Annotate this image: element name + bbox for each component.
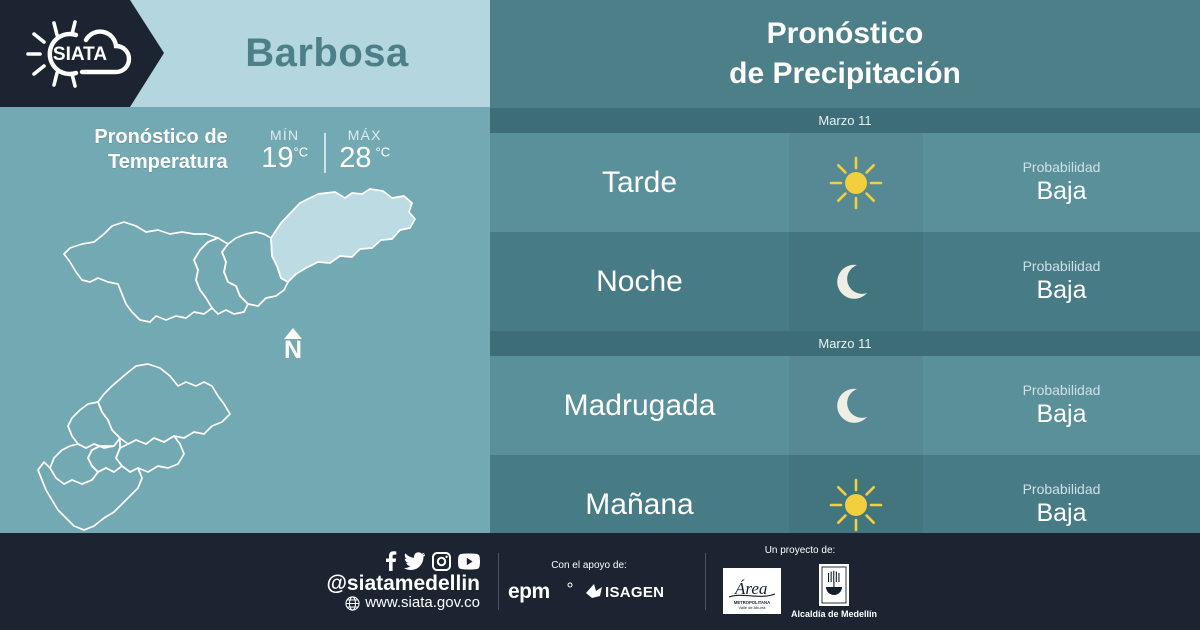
probability-value: Baja (1036, 399, 1086, 429)
sun-icon (789, 133, 923, 232)
area-metropolitana-logo: Área METROPOLITANA Valle de Aburrá (723, 568, 781, 614)
probability-label: Probabilidad (1023, 382, 1101, 400)
social-block: @siatamedellin www.siata.gov.co (300, 533, 480, 630)
forecast-rows: Marzo 11TardeProbabilidadBajaNocheProbab… (490, 108, 1200, 554)
max-label: MÁX (348, 127, 382, 143)
project-block: Un proyecto de: Área METROPOLITANA Valle… (700, 533, 900, 630)
precipitation-panel: Pronóstico de Precipitación Marzo 11Tard… (490, 0, 1200, 533)
moon-icon (789, 356, 923, 455)
date-bar: Marzo 11 (490, 331, 1200, 356)
min-label: MÍN (270, 127, 299, 143)
moon-icon (789, 232, 923, 331)
isagen-logo: ISAGEN (584, 581, 670, 601)
siata-logo-block: SIATA (0, 0, 164, 107)
map-region-envigado (116, 436, 184, 472)
compass-north: N (276, 328, 310, 363)
probability-label: Probabilidad (1023, 481, 1101, 499)
footer: @siatamedellin www.siata.gov.co Con el a… (0, 533, 1200, 630)
temperature-title: Pronóstico de Temperatura (94, 125, 227, 175)
weather-infographic: SIATA Barbosa Pronóstico de Temperatura … (0, 0, 1200, 630)
precipitation-title: Pronóstico de Precipitación (490, 0, 1200, 108)
min-value: 19°C (261, 144, 308, 173)
support-logos: epm ISAGEN (508, 579, 670, 603)
temperature-title-line2: Temperatura (94, 150, 227, 175)
north-label: N (276, 338, 310, 363)
min-unit: °C (294, 144, 309, 159)
date-bar: Marzo 11 (490, 108, 1200, 133)
temperature-max: MÁX 28°C (334, 127, 396, 173)
min-number: 19 (261, 142, 293, 174)
project-caption: Un proyecto de: (765, 545, 836, 556)
forecast-period: Noche (490, 232, 789, 331)
max-number: 28 (339, 142, 371, 174)
precipitation-title-line1: Pronóstico (767, 14, 924, 54)
social-handle[interactable]: @siatamedellin (326, 572, 480, 595)
left-panel: SIATA Barbosa Pronóstico de Temperatura … (0, 0, 490, 533)
epm-logo: epm (508, 579, 574, 603)
instagram-icon[interactable] (432, 552, 451, 571)
facebook-icon[interactable] (384, 551, 397, 571)
footer-divider-1 (498, 553, 499, 610)
map-svg (0, 186, 490, 533)
alcaldia-shield (819, 564, 849, 606)
alcaldia-logo-group: Alcaldía de Medellín (791, 564, 877, 619)
map-region-copacabana (194, 238, 248, 314)
map-region-barbosa (271, 189, 415, 282)
twitter-icon[interactable] (404, 551, 425, 571)
probability-value: Baja (1036, 498, 1086, 528)
probability-value: Baja (1036, 176, 1086, 206)
temperature-summary: Pronóstico de Temperatura MÍN 19°C MÁX 2… (0, 107, 490, 192)
social-icons (384, 551, 480, 571)
temperature-title-line1: Pronóstico de (94, 125, 227, 150)
temperature-divider (324, 133, 326, 173)
website-line[interactable]: www.siata.gov.co (345, 595, 480, 612)
max-unit: °C (376, 144, 391, 159)
aburra-valley-map: N (0, 186, 490, 533)
city-header-bar: SIATA Barbosa (0, 0, 490, 107)
youtube-icon[interactable] (458, 553, 480, 570)
siata-wordmark: SIATA (53, 44, 107, 65)
forecast-row: NocheProbabilidadBaja (490, 232, 1200, 331)
temperature-min: MÍN 19°C (254, 127, 316, 173)
forecast-probability: ProbabilidadBaja (923, 356, 1200, 455)
map-region-itagui (68, 402, 120, 448)
precipitation-title-line2: de Precipitación (729, 54, 961, 94)
sun-cloud-icon: SIATA (20, 18, 138, 90)
area-sub2: Valle de Aburrá (738, 605, 766, 610)
forecast-row: TardeProbabilidadBaja (490, 133, 1200, 232)
svg-text:ISAGEN: ISAGEN (605, 584, 664, 601)
map-region-bello (64, 222, 218, 322)
svg-text:epm: epm (508, 580, 550, 603)
temperature-values: MÍN 19°C MÁX 28°C (254, 127, 396, 173)
forecast-period: Tarde (490, 133, 789, 232)
map-region-medellin (98, 364, 230, 444)
project-logos: Área METROPOLITANA Valle de Aburrá (723, 564, 877, 619)
website-url[interactable]: www.siata.gov.co (365, 595, 480, 612)
globe-icon (345, 596, 360, 611)
probability-label: Probabilidad (1023, 258, 1101, 276)
support-block: Con el apoyo de: epm ISAGEN (513, 533, 665, 630)
max-value: 28°C (339, 144, 390, 173)
probability-label: Probabilidad (1023, 159, 1101, 177)
support-caption: Con el apoyo de: (551, 560, 627, 571)
alcaldia-label: Alcaldía de Medellín (791, 609, 877, 619)
forecast-row: MadrugadaProbabilidadBaja (490, 356, 1200, 455)
map-region-caldas (38, 462, 142, 530)
probability-value: Baja (1036, 275, 1086, 305)
forecast-probability: ProbabilidadBaja (923, 232, 1200, 331)
forecast-period: Madrugada (490, 356, 789, 455)
forecast-probability: ProbabilidadBaja (923, 133, 1200, 232)
page-title: Barbosa (164, 0, 490, 107)
